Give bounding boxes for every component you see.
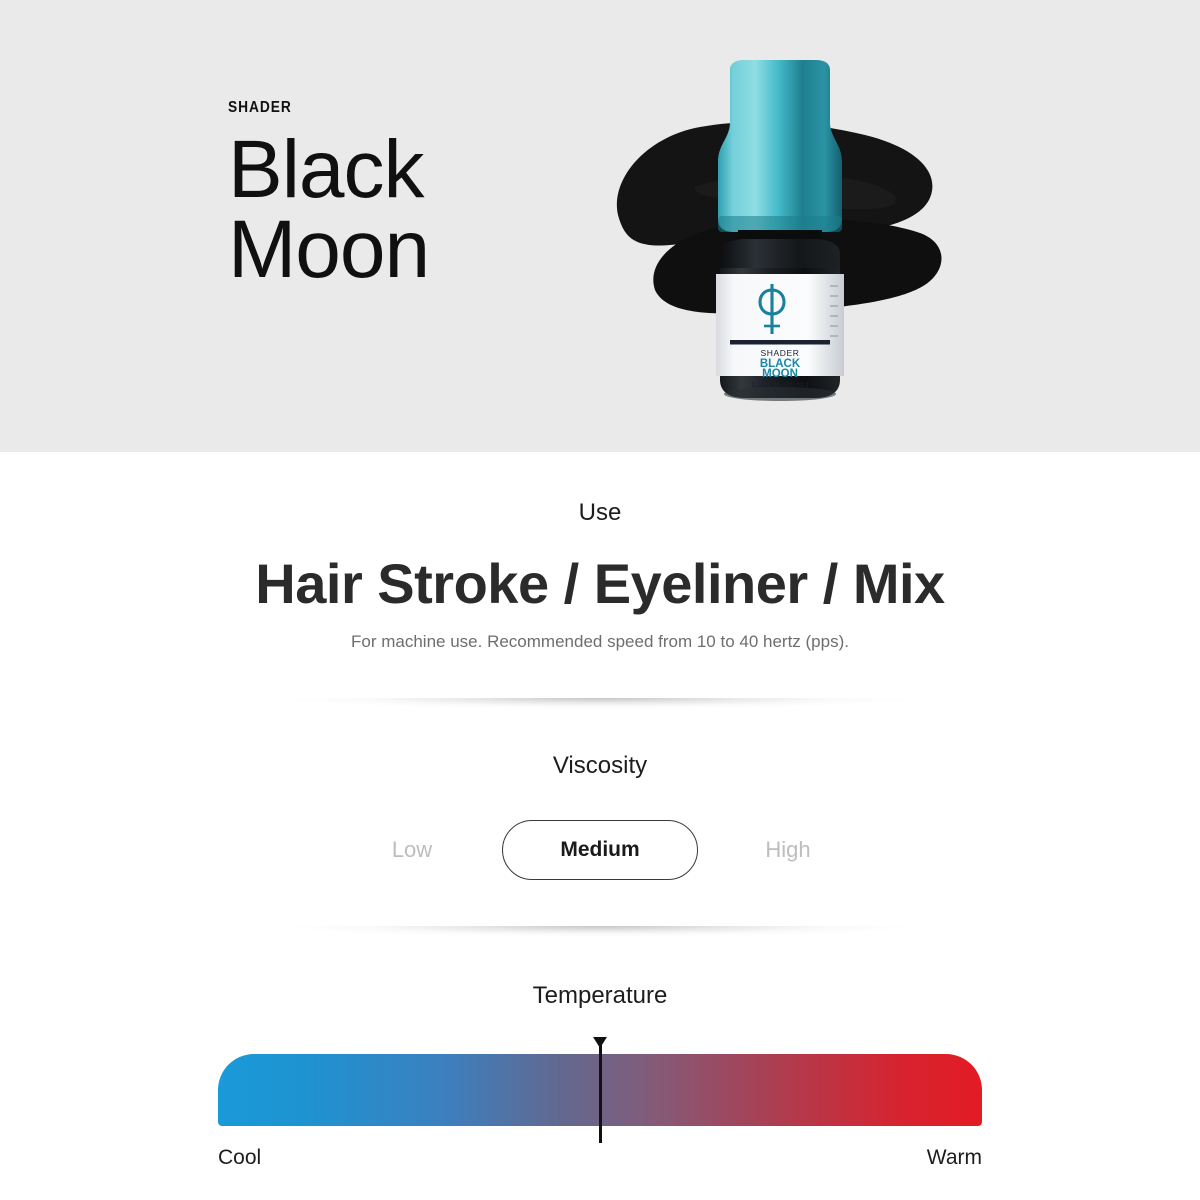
product-details-content: Use Hair Stroke / Eyeliner / Mix For mac…: [0, 452, 1200, 1170]
section-divider-1: [280, 692, 920, 710]
temperature-section-label: Temperature: [0, 982, 1200, 1010]
use-headline: Hair Stroke / Eyeliner / Mix: [0, 555, 1200, 614]
temperature-endpoint-labels: Cool Warm: [218, 1146, 982, 1170]
use-section-label: Use: [0, 499, 1200, 527]
viscosity-options-row: Low Medium High: [0, 820, 1200, 880]
viscosity-section-label: Viscosity: [0, 752, 1200, 780]
product-hero-banner: SHADER Black Moon: [0, 0, 1200, 452]
use-note: For machine use. Recommended speed from …: [0, 632, 1200, 652]
product-bottle-image: SHADER BLACK MOON 0.34 fl.oz. (10 mL): [660, 58, 900, 403]
viscosity-section: Viscosity Low Medium High: [0, 710, 1200, 880]
hero-text-block: SHADER Black Moon: [228, 100, 648, 289]
viscosity-option-medium[interactable]: Medium: [502, 820, 698, 880]
temperature-warm-label: Warm: [927, 1146, 982, 1170]
viscosity-option-high[interactable]: High: [698, 837, 878, 863]
svg-text:MOON: MOON: [762, 368, 798, 380]
product-title-line-2: Moon: [228, 210, 648, 290]
section-divider-2: [280, 920, 920, 938]
product-title-line-1: Black: [228, 130, 648, 210]
page-title: Black Moon: [228, 130, 648, 289]
product-category-eyebrow: SHADER: [228, 100, 589, 116]
temperature-section: Temperature Cool Warm: [0, 938, 1200, 1170]
svg-text:SHADER: SHADER: [760, 348, 799, 358]
temperature-gradient-bar[interactable]: [218, 1054, 982, 1126]
use-section: Use Hair Stroke / Eyeliner / Mix For mac…: [0, 452, 1200, 652]
temperature-marker-stem: [599, 1045, 602, 1143]
temperature-cool-label: Cool: [218, 1146, 261, 1170]
viscosity-option-low[interactable]: Low: [322, 837, 502, 863]
temperature-scale: Cool Warm: [218, 1054, 982, 1170]
